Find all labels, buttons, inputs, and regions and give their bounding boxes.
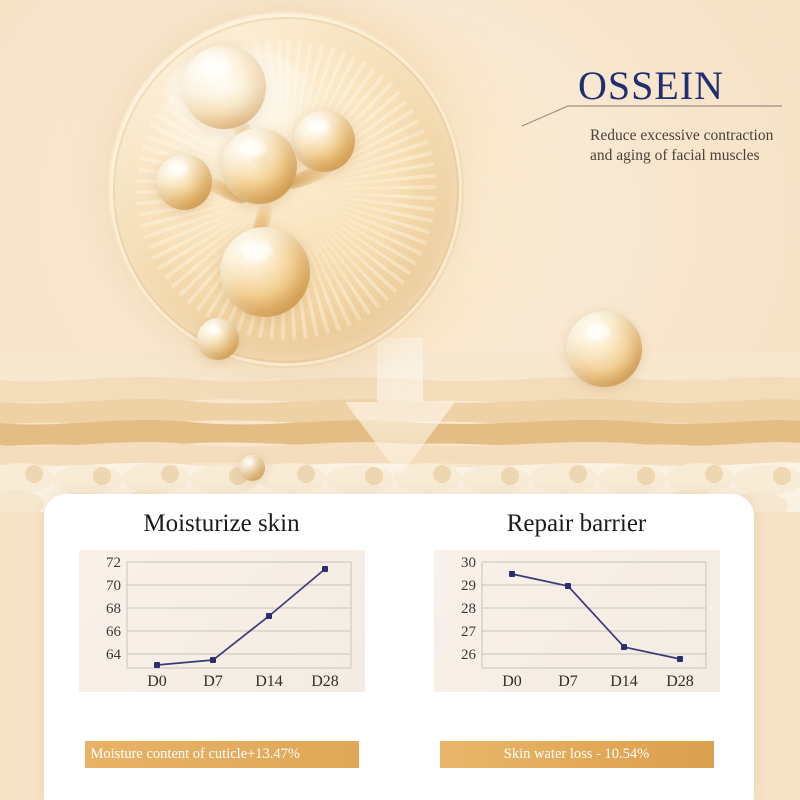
svg-text:30: 30 — [461, 555, 476, 571]
svg-text:28: 28 — [461, 601, 476, 617]
svg-text:D14: D14 — [255, 673, 283, 690]
chart-caption-repair: Skin water loss - 10.54% — [440, 741, 714, 768]
sphere-highlight — [165, 48, 315, 141]
chart-title-repair: Repair barrier — [399, 510, 754, 538]
leader-line — [520, 104, 782, 128]
svg-text:D14: D14 — [610, 673, 638, 690]
droplet-tiny-center — [239, 455, 265, 481]
molecule-sphere — [108, 12, 464, 368]
svg-text:D7: D7 — [203, 673, 223, 690]
chart-plot-moisturize: 72 70 68 66 64 — [79, 550, 365, 692]
brand-description: Reduce excessive contraction and aging o… — [590, 126, 796, 166]
svg-text:72: 72 — [106, 555, 121, 571]
chart-card-repair: Repair barrier — [399, 494, 754, 800]
svg-text:64: 64 — [106, 647, 122, 663]
results-panel: Moisturize skin — [44, 494, 754, 800]
svg-text:26: 26 — [461, 647, 477, 663]
svg-text:D7: D7 — [558, 673, 578, 690]
svg-text:70: 70 — [106, 578, 121, 594]
infographic-root: OSSEIN Reduce excessive contraction and … — [0, 0, 800, 800]
svg-text:66: 66 — [106, 624, 122, 640]
svg-text:D0: D0 — [502, 673, 522, 690]
svg-text:29: 29 — [461, 578, 476, 594]
droplet-large-right — [566, 311, 642, 387]
svg-text:D28: D28 — [311, 673, 339, 690]
chart-card-moisturize: Moisturize skin — [44, 494, 399, 800]
chart-plot-repair: 30 29 28 27 26 — [434, 550, 720, 692]
svg-text:D0: D0 — [147, 673, 167, 690]
chart-title-moisturize: Moisturize skin — [44, 510, 399, 538]
svg-text:68: 68 — [106, 601, 121, 617]
svg-text:27: 27 — [461, 624, 477, 640]
page-title: OSSEIN — [578, 62, 724, 109]
droplet-small-left — [197, 318, 239, 360]
svg-text:D28: D28 — [666, 673, 694, 690]
chart-caption-moisturize: Moisture content of cuticle+13.47% — [85, 741, 359, 768]
